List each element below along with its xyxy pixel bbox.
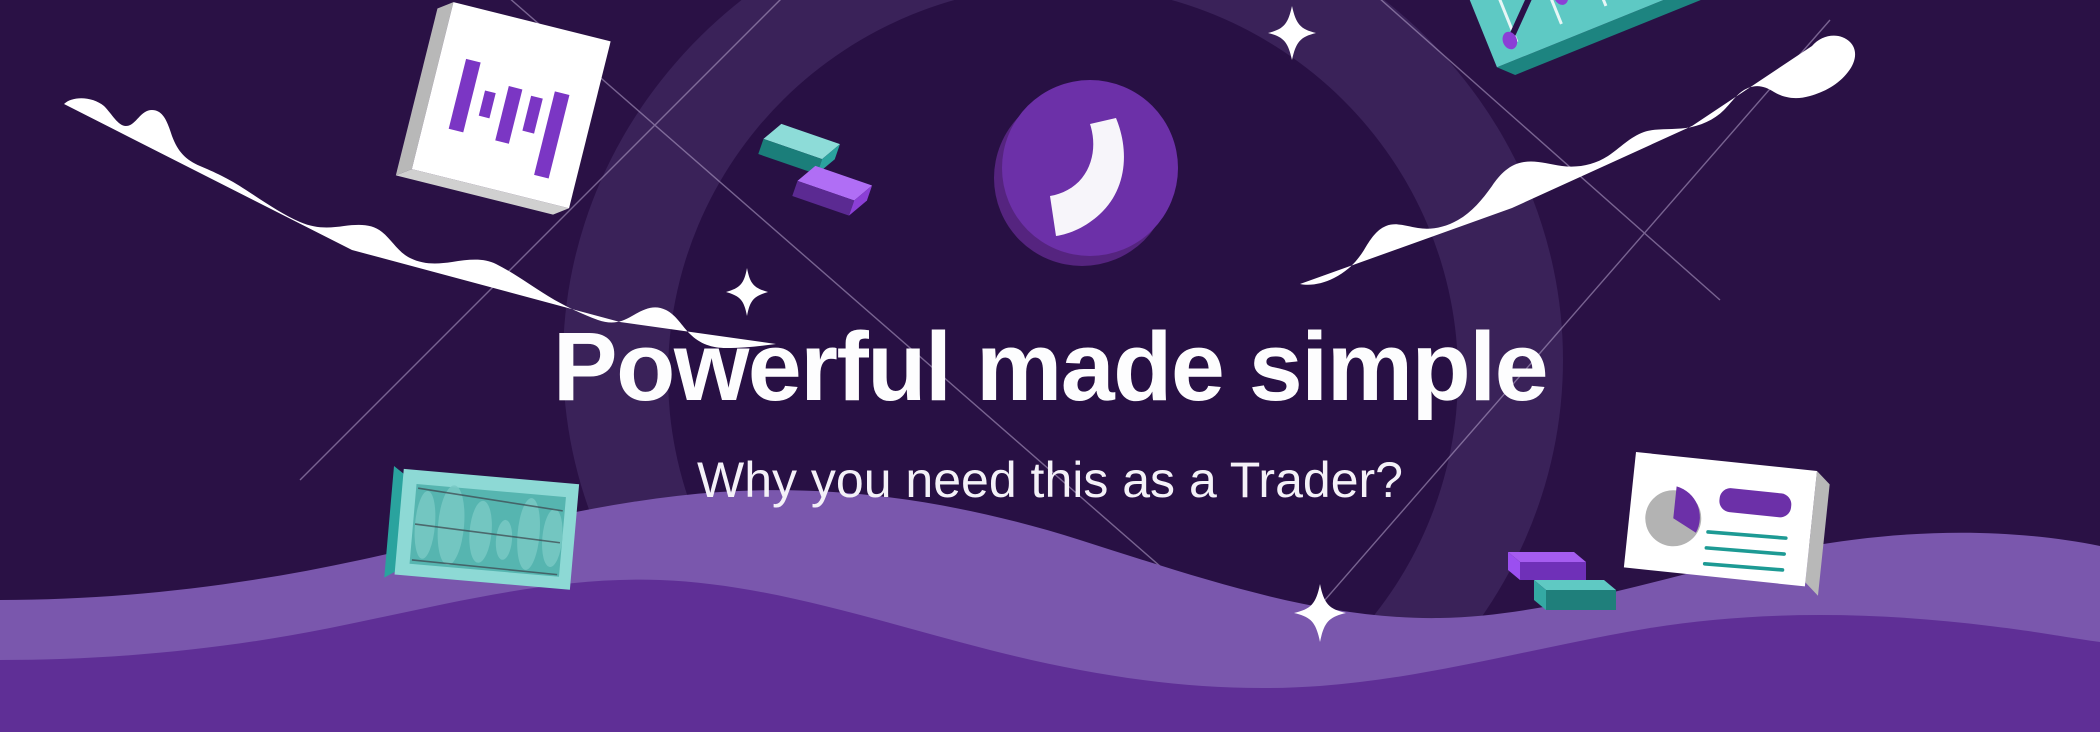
hero-banner: Powerful made simple Why you need this a… bbox=[0, 0, 2100, 732]
brand-logo[interactable] bbox=[0, 0, 2100, 732]
